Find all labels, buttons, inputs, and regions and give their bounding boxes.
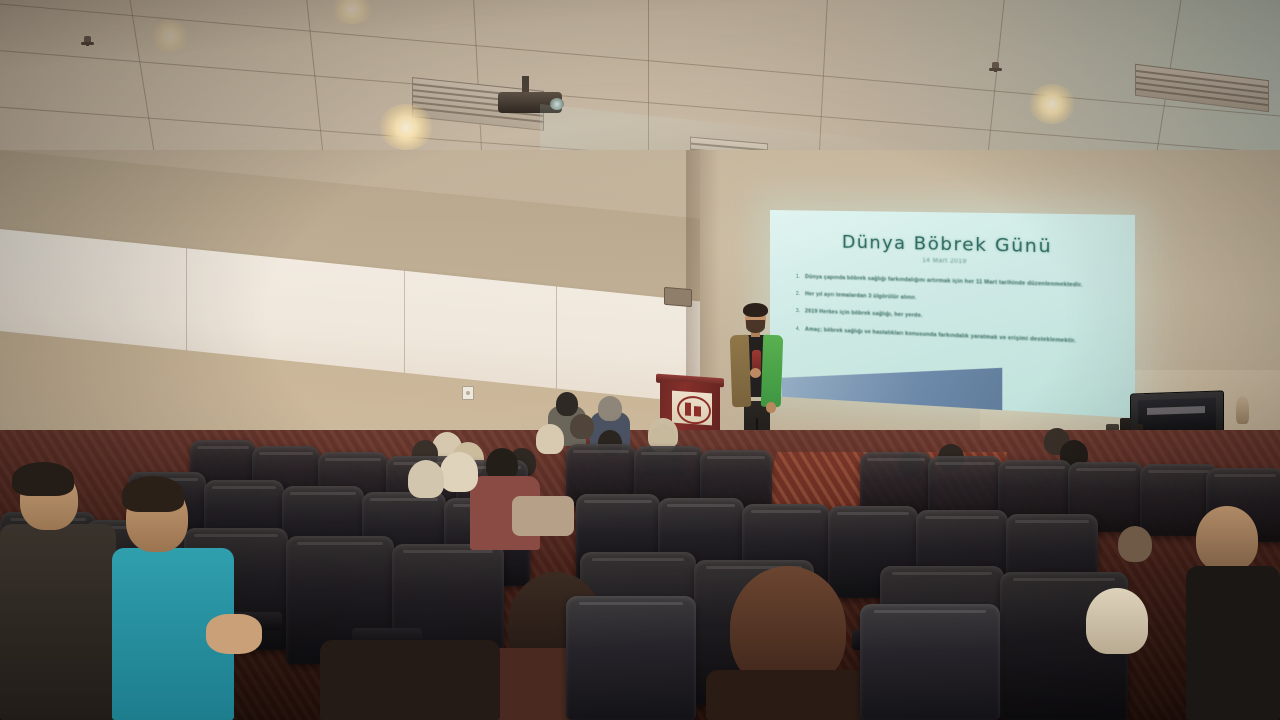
auditorium-chair — [860, 604, 1000, 720]
attendee-head — [1118, 526, 1152, 562]
attendee-arm — [512, 496, 574, 536]
ceiling-downlight — [150, 20, 190, 52]
slide-bullet-list: 1. Dünya çapında böbrek sağlığı farkında… — [796, 273, 1116, 357]
wall-outlet — [462, 386, 474, 400]
slide-bullet-item: 4. Amaç; böbrek sağlığı ve hastalıkları … — [796, 325, 1116, 348]
attendee-head — [598, 396, 622, 421]
attendee-headscarf — [536, 424, 564, 454]
projection-screen: Dünya Böbrek Günü 14 Mart 2019 1. Dünya … — [770, 210, 1135, 418]
auditorium-chair — [566, 596, 696, 720]
attendee-hair — [122, 476, 184, 512]
institution-emblem — [677, 395, 711, 425]
bullet-marker: 1. — [796, 273, 800, 281]
bullet-marker: 4. — [796, 325, 800, 333]
attendee-headscarf — [1086, 588, 1148, 654]
attendee-body — [320, 640, 500, 720]
bullet-text: Her yıl ayrı temalardan 3 ülgörülür alın… — [805, 290, 916, 302]
attendee-head — [556, 392, 578, 416]
bullet-text: 2019 Herkes için böbrek sağlığı, her yer… — [805, 308, 923, 321]
ceiling-downlight — [378, 104, 434, 150]
decorative-vase — [1236, 396, 1249, 424]
presenter-beard — [746, 320, 765, 333]
ceiling-projector — [494, 86, 568, 116]
attendee-head — [570, 414, 594, 439]
slide-bullet-item: 2. Her yıl ayrı temalardan 3 ülgörülür a… — [796, 290, 1116, 310]
bullet-marker: 3. — [796, 307, 800, 315]
attendee-headscarf — [440, 452, 478, 492]
sprinkler-head — [992, 62, 999, 71]
presenter-hair — [743, 303, 768, 317]
presenter-jacket-left — [730, 335, 752, 408]
attendee-hair — [12, 462, 74, 496]
slide-bullet-item: 3. 2019 Herkes için böbrek sağlığı, her … — [796, 307, 1116, 328]
ceiling-downlight — [330, 0, 374, 24]
bullet-marker: 2. — [796, 290, 800, 298]
attendee-body — [706, 670, 870, 720]
attendee-body — [1186, 566, 1280, 720]
wall-speaker — [664, 287, 692, 307]
lectern-plaque — [672, 391, 712, 426]
attendee-body — [0, 524, 116, 720]
sprinkler-head — [84, 36, 91, 45]
attendee-hand — [206, 614, 262, 654]
bullet-text: Dünya çapında böbrek sağlığı farkındalığ… — [805, 273, 1083, 290]
bullet-text: Amaç; böbrek sağlığı ve hastalıkları kon… — [805, 325, 1076, 345]
slide-surface: Dünya Böbrek Günü 14 Mart 2019 1. Dünya … — [770, 210, 1135, 418]
presenter-hand — [766, 402, 776, 413]
presenter-hand — [750, 368, 761, 378]
ceiling-downlight — [1028, 84, 1076, 124]
presenter-jacket-right — [761, 335, 784, 408]
slide-bullet-item: 1. Dünya çapında böbrek sağlığı farkında… — [796, 273, 1116, 291]
attendee-headscarf — [408, 460, 444, 498]
conference-hall-photo: Dünya Böbrek Günü 14 Mart 2019 1. Dünya … — [0, 0, 1280, 720]
projector-mount — [522, 76, 529, 92]
projector-lens — [550, 98, 564, 110]
attendee-head — [1196, 506, 1258, 572]
